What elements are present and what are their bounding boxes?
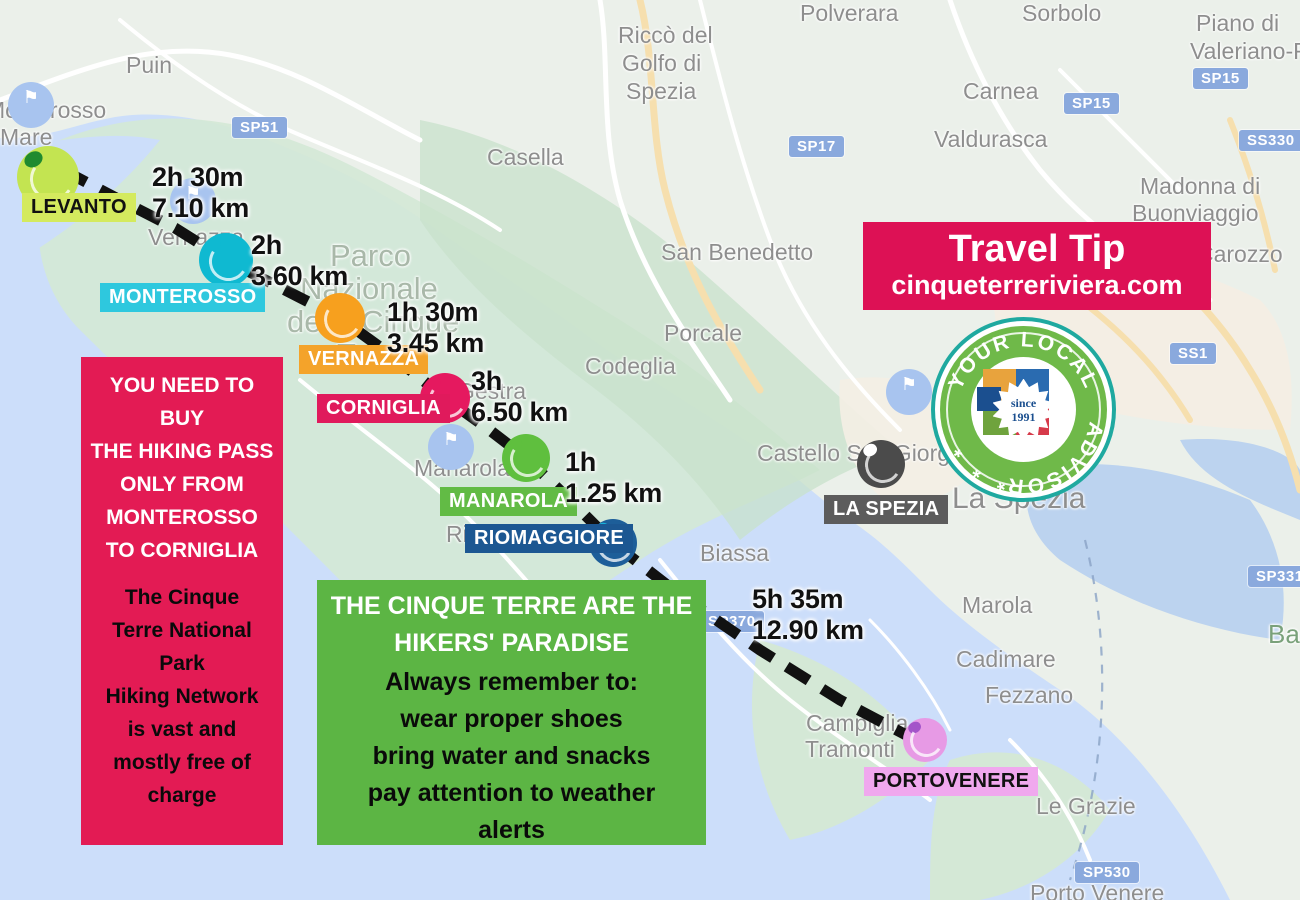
town-label-laspezia: LA SPEZIA	[824, 495, 948, 524]
map-place-label: Codeglia	[585, 353, 676, 379]
hiking-pass-title: YOU NEED TO BUYTHE HIKING PASSONLY FROMM…	[81, 357, 283, 567]
map-place-label: Bastreri	[1268, 621, 1300, 647]
map-place-label: San Benedetto	[661, 239, 813, 265]
town-marker-vernazza[interactable]	[315, 293, 365, 343]
map-place-label: Biassa	[700, 540, 769, 566]
travel-tip-banner: Travel Tip cinqueterreriviera.com	[863, 222, 1211, 310]
leg-distance: 1.25 km	[565, 478, 662, 509]
town-marker-laspezia[interactable]	[857, 440, 905, 488]
hiking-pass-title-line: ONLY FROM	[89, 468, 275, 501]
hikers-paradise-body-line: Always remember to:	[323, 664, 700, 701]
hikers-paradise-title-line: HIKERS' PARADISE	[323, 625, 700, 662]
road-shield: SP530	[1075, 862, 1139, 883]
road-shield: SP331	[1248, 566, 1300, 587]
badge-since-label: since	[1011, 396, 1036, 410]
badge-core: since 1991	[971, 357, 1076, 462]
flag-icon: ⚑	[8, 82, 54, 112]
map-place-label: Valeriano-Ripa	[1190, 38, 1300, 64]
town-label-corniglia: CORNIGLIA	[317, 394, 450, 423]
town-label-monterosso: MONTEROSSO	[100, 283, 265, 312]
hiking-pass-body-line: mostly free of	[87, 746, 277, 779]
map-place-label: Porcale	[664, 320, 742, 346]
hiking-pass-title-line: MONTEROSSO	[89, 501, 275, 534]
travel-tip-title: Travel Tip	[877, 228, 1197, 270]
hiking-pass-body-line: The Cinque	[87, 581, 277, 614]
leg-time: 3h	[471, 366, 568, 397]
leg-time: 1h	[565, 447, 662, 478]
map-place-label: Tramonti	[805, 736, 895, 762]
road-shield: SS330	[1239, 130, 1300, 151]
hiking-pass-info-box: YOU NEED TO BUYTHE HIKING PASSONLY FROMM…	[81, 357, 283, 845]
map-place-label: Cadimare	[956, 646, 1056, 672]
map-place-label: Marola	[962, 592, 1032, 618]
map-place-label: Valdurasca	[934, 126, 1047, 152]
hikers-paradise-body: Always remember to:wear proper shoesbrin…	[317, 662, 706, 849]
hikers-paradise-body-line: wear proper shoes	[323, 701, 700, 738]
route-leg-riomaggiore-portovenere: 5h 35m12.90 km	[752, 584, 864, 646]
town-label-portovenere: PORTOVENERE	[864, 767, 1038, 796]
hiking-pass-title-line: THE HIKING PASS	[89, 435, 275, 468]
road-shield: SP51	[232, 117, 287, 138]
poi-pin-manarola[interactable]: ⚑	[428, 424, 474, 470]
map-place-label: Sorbolo	[1022, 0, 1101, 26]
map-place-label: Madonna di	[1140, 173, 1260, 199]
leg-time: 2h	[251, 230, 348, 261]
hiking-pass-title-line: YOU NEED TO BUY	[89, 369, 275, 435]
hiking-pass-body-line: is vast and	[87, 713, 277, 746]
map-place-label: Carnea	[963, 78, 1038, 104]
map-place-label: Spezia	[626, 78, 696, 104]
hiking-pass-title-line: TO CORNIGLIA	[89, 534, 275, 567]
route-leg-corniglia-manarola: 3h6.50 km	[471, 366, 568, 428]
map-place-label: Casella	[487, 144, 564, 170]
route-leg-manarola-riomaggiore: 1h1.25 km	[565, 447, 662, 509]
leg-distance: 7.10 km	[152, 193, 249, 224]
hiking-pass-body-line: Hiking Network	[87, 680, 277, 713]
road-shield: SP15	[1193, 68, 1248, 89]
poi-pin-laspezia[interactable]: ⚑	[886, 369, 932, 415]
road-shield: SP17	[789, 136, 844, 157]
map-place-label: Golfo di	[622, 50, 701, 76]
route-leg-vernazza-corniglia: 1h 30m3.45 km	[387, 297, 484, 359]
flag-icon: ⚑	[428, 424, 474, 454]
map-place-label: Puin	[126, 52, 172, 78]
hiking-pass-body-line: Terre National Park	[87, 614, 277, 680]
map-place-label: Porto Venere	[1030, 880, 1164, 900]
map-place-label: Le Grazie	[1036, 793, 1136, 819]
travel-tip-website[interactable]: cinqueterreriviera.com	[877, 270, 1197, 300]
leg-distance: 3.45 km	[387, 328, 484, 359]
route-leg-monterosso-vernazza: 2h3.60 km	[251, 230, 348, 292]
map-place-label: Polverara	[800, 0, 898, 26]
map-place-label: Piano di	[1196, 10, 1279, 36]
road-shield: SS1	[1170, 343, 1216, 364]
hikers-paradise-body-line: bring water and snacks	[323, 738, 700, 775]
your-local-advisor-badge[interactable]: YOUR LOCAL ADVISOR * * * since 1991	[931, 317, 1116, 502]
leg-distance: 6.50 km	[471, 397, 568, 428]
town-label-riomaggiore: RIOMAGGIORE	[465, 524, 633, 553]
town-marker-monterosso[interactable]	[199, 233, 253, 287]
badge-since-year: 1991	[1012, 410, 1036, 424]
leg-distance: 3.60 km	[251, 261, 348, 292]
hikers-paradise-title: THE CINQUE TERRE ARE THEHIKERS' PARADISE	[317, 580, 706, 662]
town-marker-portovenere[interactable]	[903, 718, 947, 762]
flag-icon: ⚑	[886, 369, 932, 399]
town-marker-manarola[interactable]	[502, 434, 550, 482]
poi-pin-monterosso[interactable]: ⚑	[8, 82, 54, 128]
leg-time: 5h 35m	[752, 584, 864, 615]
town-label-manarola: MANAROLA	[440, 487, 577, 516]
map-infographic: PuinPolveraraSorboloPiano diValeriano-Ri…	[0, 0, 1300, 900]
road-shield: SP15	[1064, 93, 1119, 114]
map-place-label: Campiglia	[806, 710, 908, 736]
leg-time: 2h 30m	[152, 162, 249, 193]
leg-time: 1h 30m	[387, 297, 484, 328]
map-place-label: Fezzano	[985, 682, 1073, 708]
town-label-levanto: LEVANTO	[22, 193, 136, 222]
hiking-pass-body: The CinqueTerre National ParkHiking Netw…	[81, 567, 283, 812]
hiking-pass-body-line: charge	[87, 779, 277, 812]
leg-distance: 12.90 km	[752, 615, 864, 646]
hikers-paradise-body-line: pay attention to weather	[323, 775, 700, 812]
map-place-label: Riccò del	[618, 22, 713, 48]
hikers-paradise-title-line: THE CINQUE TERRE ARE THE	[323, 588, 700, 625]
hikers-paradise-info-box: THE CINQUE TERRE ARE THEHIKERS' PARADISE…	[317, 580, 706, 845]
route-leg-levanto-monterosso: 2h 30m7.10 km	[152, 162, 249, 224]
hikers-paradise-body-line: alerts	[323, 812, 700, 849]
